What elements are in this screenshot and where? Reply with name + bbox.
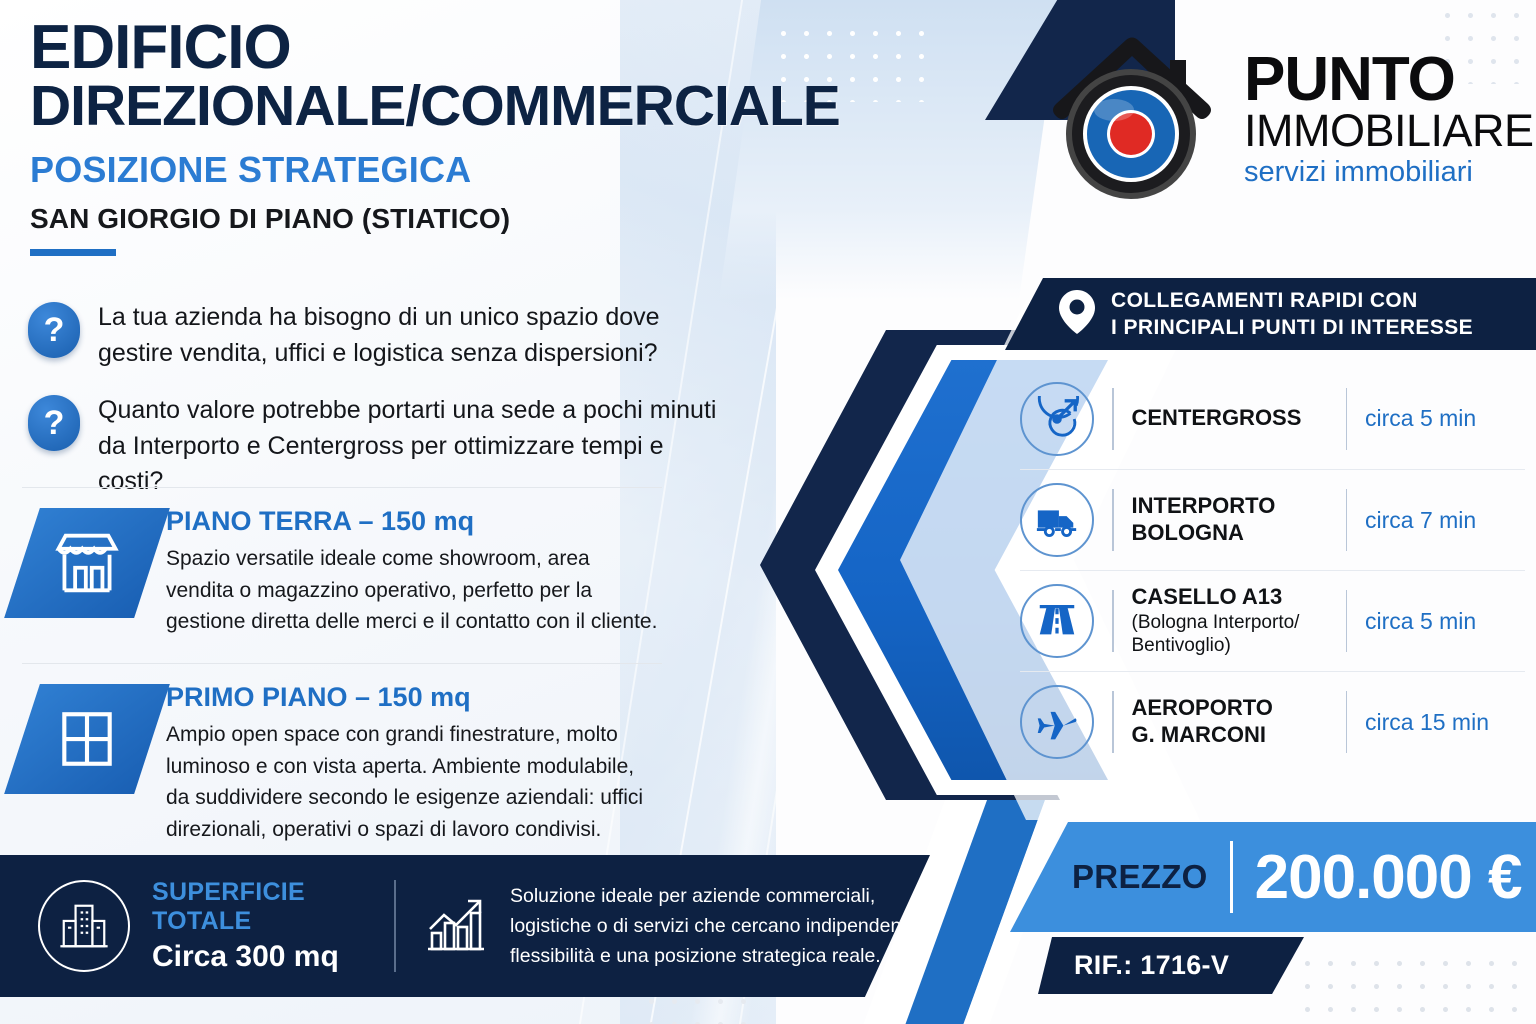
question-text: La tua azienda ha bisogno di un unico sp… [98,300,728,371]
row-divider-left [1112,691,1114,753]
connection-name: AEROPORTO G. MARCONI [1132,695,1328,749]
floor-title: PRIMO PIANO – 150 mq [166,682,662,713]
floor-block-ground: PIANO TERRA – 150 mq Spazio versatile id… [22,487,662,638]
dot-grid-bottom-right [1296,952,1526,1016]
question-item: ? Quanto valore potrebbe portarti una se… [28,393,728,500]
summary-divider [394,880,396,972]
logo-wordmark: PUNTO IMMOBILIARE servizi immobiliari [1244,51,1534,189]
connection-time: circa 5 min [1365,608,1525,635]
connection-time: circa 15 min [1365,709,1525,736]
question-text: Quanto valore potrebbe portarti una sede… [98,393,728,500]
row-divider-right [1346,489,1348,551]
connections-list: CENTERGROSS circa 5 min INTERPORTO BOLOG… [1020,368,1525,772]
connection-name-line-1: CASELLO A13 [1132,584,1328,611]
headline-underline-accent [30,249,116,256]
surface-total-value: Circa 300 mq [152,940,366,974]
connection-name: CENTERGROSS [1132,405,1328,432]
truck-icon [1020,483,1094,557]
floor-title: PIANO TERRA – 150 mq [166,506,662,537]
row-divider-right [1346,388,1348,450]
price-divider [1230,841,1233,913]
company-logo: PUNTO IMMOBILIARE servizi immobiliari [1030,18,1534,223]
connection-time: circa 5 min [1365,405,1525,432]
house-target-logo-icon [1030,18,1230,223]
connections-header-text: COLLEGAMENTI RAPIDI CON I PRINCIPALI PUN… [1111,287,1473,342]
floor-description: Spazio versatile ideale come showroom, a… [166,543,662,638]
question-mark-icon: ? [28,395,80,451]
headline-line-1: EDIFICIO [30,18,930,79]
floor-description: Ampio open space con grandi finestrature… [166,719,662,845]
row-divider-right [1346,590,1348,652]
connection-row: CASELLO A13 (Bologna Interporto/ Bentivo… [1020,570,1525,671]
surface-total-label: SUPERFICIE TOTALE [152,878,366,936]
summary-bar: SUPERFICIE TOTALE Circa 300 mq Soluzione… [0,855,930,997]
row-divider-left [1112,590,1114,652]
target-arrow-icon [1020,382,1094,456]
map-pin-icon [1057,288,1097,341]
connection-name-line-2: BOLOGNA [1132,520,1328,547]
connection-row: INTERPORTO BOLOGNA circa 7 min [1020,469,1525,570]
headline-subtitle: POSIZIONE STRATEGICA [30,149,930,191]
price-label: PREZZO [1072,858,1208,896]
logo-name-top: PUNTO [1244,51,1534,108]
row-divider-left [1112,388,1114,450]
connection-row: AEROPORTO G. MARCONI circa 15 min [1020,671,1525,772]
storefront-icon [4,508,170,618]
question-mark-icon: ? [28,302,80,358]
price-value: 200.000 € [1255,842,1522,913]
real-estate-flyer: EDIFICIO DIREZIONALE/COMMERCIALE POSIZIO… [0,0,1536,1024]
connections-header: COLLEGAMENTI RAPIDI CON I PRINCIPALI PUN… [1005,278,1536,350]
row-divider-left [1112,489,1114,551]
headline-block: EDIFICIO DIREZIONALE/COMMERCIALE POSIZIO… [30,18,930,256]
summary-note: Soluzione ideale per aziende commerciali… [510,881,930,972]
building-icon [38,880,130,972]
surface-total-block: SUPERFICIE TOTALE Circa 300 mq [152,878,366,974]
connection-name-line-1: CENTERGROSS [1132,405,1328,432]
connection-name-line-1: INTERPORTO [1132,493,1328,520]
connection-name-line-1: AEROPORTO [1132,695,1328,722]
highway-icon [1020,584,1094,658]
reference-tag: RIF.: 1716-V [1038,937,1304,994]
connection-name: INTERPORTO BOLOGNA [1132,493,1328,547]
floor-block-first: PRIMO PIANO – 150 mq Ampio open space co… [22,663,662,845]
connection-name-line-2: (Bologna Interporto/ Bentivoglio) [1132,611,1328,659]
connection-name: CASELLO A13 (Bologna Interporto/ Bentivo… [1132,584,1328,658]
reference-text: RIF.: 1716-V [1074,950,1229,981]
question-item: ? La tua azienda ha bisogno di un unico … [28,300,728,371]
connection-name-line-2: G. MARCONI [1132,722,1328,749]
connections-header-line-1: COLLEGAMENTI RAPIDI CON [1111,287,1473,314]
logo-tagline: servizi immobiliari [1244,156,1534,189]
window-icon [4,684,170,794]
price-banner: PREZZO 200.000 € [1010,822,1536,932]
logo-name-bottom: IMMOBILIARE [1244,108,1534,153]
connection-time: circa 7 min [1365,507,1525,534]
headline-line-2: DIREZIONALE/COMMERCIALE [30,79,930,135]
connections-header-line-2: I PRINCIPALI PUNTI DI INTERESSE [1111,314,1473,341]
growth-chart-icon [424,895,488,958]
headline-location: SAN GIORGIO DI PIANO (STIATICO) [30,203,930,235]
airplane-icon [1020,685,1094,759]
row-divider-right [1346,691,1348,753]
connection-row: CENTERGROSS circa 5 min [1020,368,1525,469]
